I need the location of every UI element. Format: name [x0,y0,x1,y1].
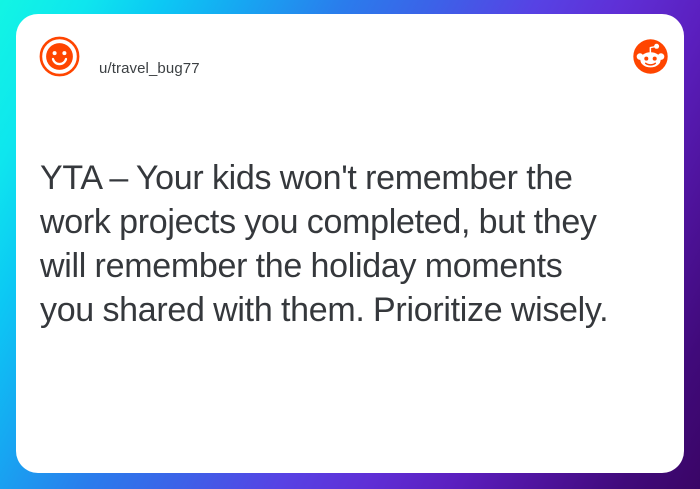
reddit-quote-card: u/travel_bug77 [16,14,684,473]
card-header: u/travel_bug77 [16,14,684,98]
reddit-snoo-icon[interactable] [630,36,671,77]
screenshot-canvas: u/travel_bug77 [0,0,700,489]
smiley-face-avatar-icon[interactable] [39,36,80,77]
post-text: YTA – Your kids won't remember the work … [40,156,615,332]
username-label: u/travel_bug77 [99,60,200,77]
